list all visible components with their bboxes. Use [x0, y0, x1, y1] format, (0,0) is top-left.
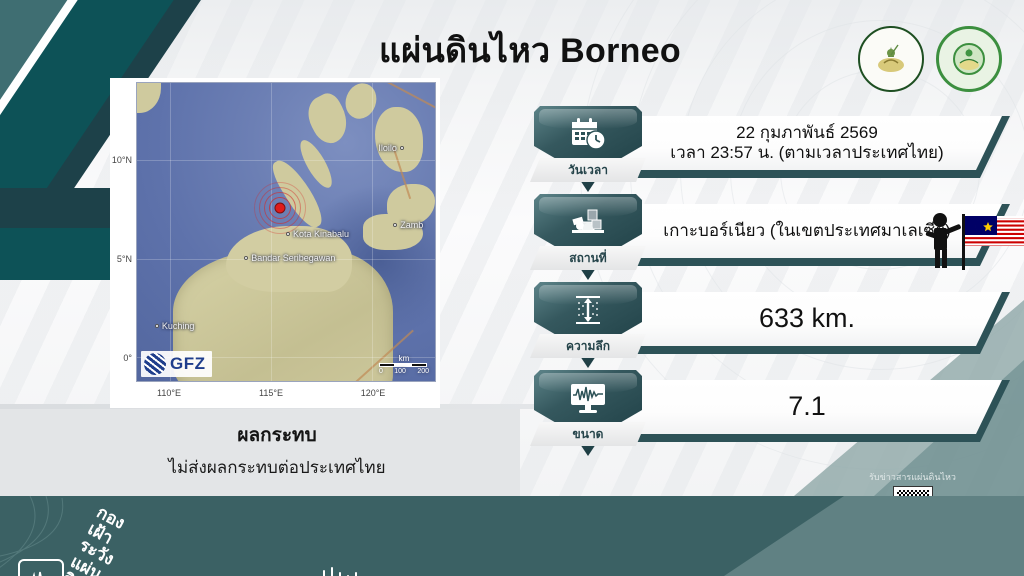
datetime-time: เวลา 23:57 น. (ตามเวลาประเทศไทย)	[670, 143, 943, 163]
map-graticule	[170, 83, 171, 381]
shield-datetime: วันเวลา	[534, 106, 642, 192]
magnitude-value: 7.1	[788, 391, 826, 422]
location-text: เกาะบอร์เนียว (ในเขตประเทศมาเลเซีย)	[663, 221, 950, 241]
row-value-panel: 22 กุมภาพันธ์ 2569 เวลา 23:57 น. (ตามเวล…	[590, 116, 1002, 170]
malaysia-flag-icon	[922, 208, 1024, 270]
gfz-mark-icon	[144, 353, 166, 375]
map-city-label: Bandar Seribegawan	[244, 253, 335, 263]
shield-magnitude: ขนาด	[534, 370, 642, 456]
seismograph-monitor-icon	[534, 376, 642, 420]
meteorological-department-emblem	[936, 26, 1002, 92]
emblem-group	[858, 26, 1002, 92]
info-row-datetime: 22 กุมภาพันธ์ 2569 เวลา 23:57 น. (ตามเวล…	[528, 106, 998, 194]
gfz-logo: GFZ	[141, 351, 212, 377]
info-row-magnitude: 7.1 ขนาด	[528, 370, 998, 458]
shield-depth: ความลึก	[534, 282, 642, 368]
map-city-label: Kuching	[155, 321, 195, 331]
map-city-label: Kota Kinabalu	[286, 229, 349, 239]
impact-section: ผลกระทบ ไม่ส่งผลกระทบต่อประเทศไทย	[92, 420, 462, 481]
row-value-panel: 633 km.	[590, 292, 1002, 346]
map-canvas[interactable]: Kota Kinabalu Bandar Seribegawan Kuching…	[136, 82, 436, 382]
shield-location: สถานที่	[534, 194, 642, 280]
epicenter-map[interactable]: Kota Kinabalu Bandar Seribegawan Kuching…	[110, 78, 440, 408]
map-graticule	[137, 160, 435, 161]
infographic-stage: แผ่นดินไหว Borneo	[0, 0, 1024, 576]
info-rows: 22 กุมภาพันธ์ 2569 เวลา 23:57 น. (ตามเวล…	[528, 106, 998, 458]
info-row-depth: 633 km.	[528, 282, 998, 370]
depth-arrow-icon	[534, 288, 642, 332]
map-land-mindoro	[340, 82, 380, 123]
shield-label-magnitude: ขนาด	[530, 422, 646, 446]
impact-text: ไม่ส่งผลกระทบต่อประเทศไทย	[92, 454, 462, 481]
shield-label-depth: ความลึก	[530, 334, 646, 358]
seismograph-logo-icon	[18, 559, 64, 576]
emblem-caption-ministry	[858, 26, 924, 92]
footer-bar: กองเฝ้าระวังแผ่นดินไหว EARTHQUAKE OBSERV…	[0, 496, 1024, 576]
qr-caption: รับข่าวสารแผ่นดินไหว	[869, 470, 956, 484]
map-land-indochina	[136, 82, 161, 113]
info-row-location: เกาะบอร์เนียว (ในเขตประเทศมาเลเซีย)	[528, 194, 998, 282]
map-scale-unit: km	[379, 354, 429, 363]
waveform-decor-icon	[304, 567, 414, 576]
map-city-label: Iloilo	[378, 143, 404, 153]
row-value-panel: 7.1	[590, 380, 1002, 434]
map-axis-x: 110°E 115°E 120°E	[136, 384, 436, 404]
calendar-clock-icon	[534, 112, 642, 156]
map-city-label: Zamb	[393, 220, 423, 230]
emblem-caption-meteorological	[936, 26, 1002, 92]
ministry-of-digital-economy-and-society-emblem	[858, 26, 924, 92]
map-scale-bar: km 0 100 200	[379, 354, 429, 375]
organization-logo: กองเฝ้าระวังแผ่นดินไหว EARTHQUAKE OBSERV…	[18, 508, 414, 576]
depth-value: 633 km.	[759, 303, 855, 334]
location-rubble-icon	[534, 200, 642, 244]
footer-wedge	[724, 496, 1024, 576]
map-axis-y: 10°N 5°N 0°	[110, 82, 136, 382]
shield-label-location: สถานที่	[530, 246, 646, 270]
impact-title: ผลกระทบ	[92, 420, 462, 450]
page-title: แผ่นดินไหว Borneo	[300, 32, 760, 71]
shield-label-datetime: วันเวลา	[530, 158, 646, 182]
datetime-date: 22 กุมภาพันธ์ 2569	[670, 123, 943, 143]
map-graticule	[372, 83, 373, 381]
